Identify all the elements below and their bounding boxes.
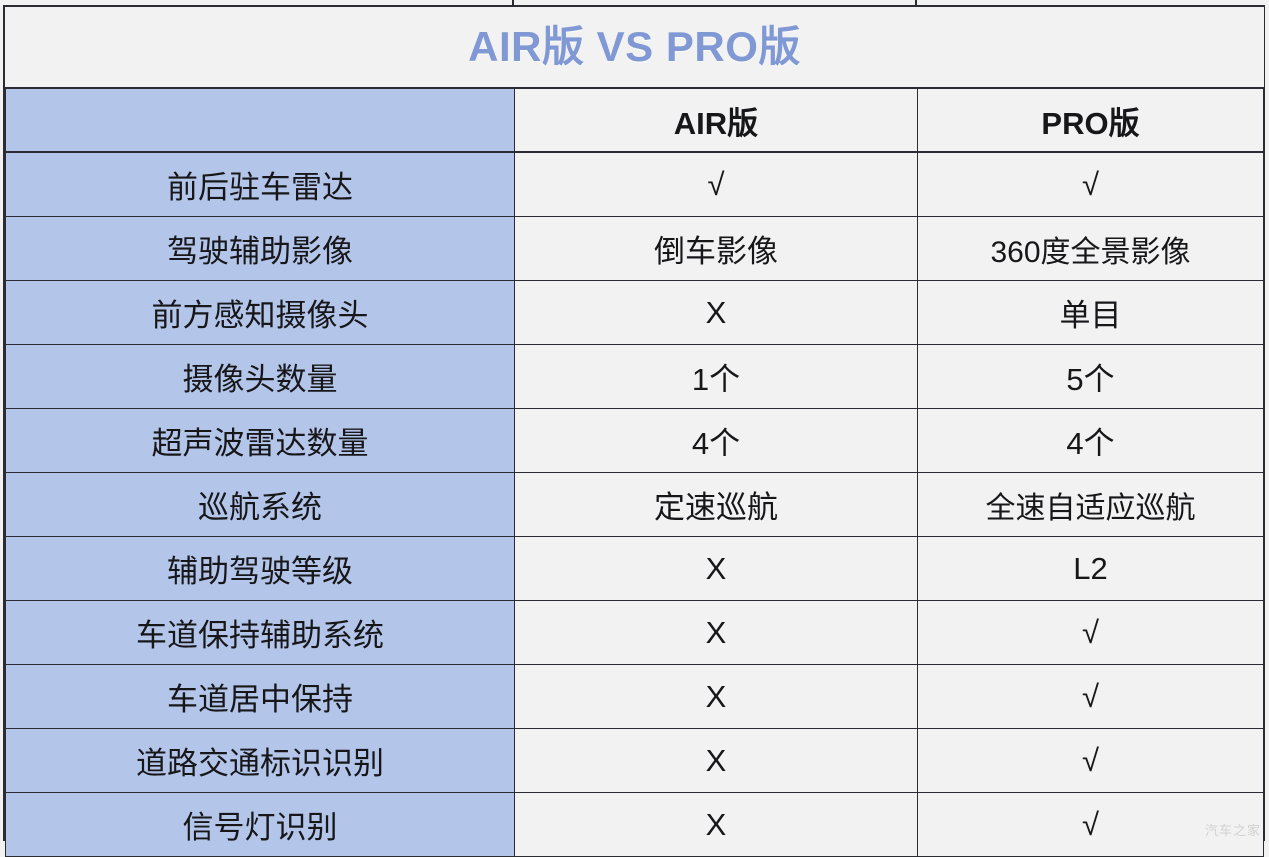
pro-value: 单目	[918, 281, 1264, 345]
pro-value: √	[918, 665, 1264, 729]
feature-label: 前方感知摄像头	[6, 281, 515, 345]
air-value: X	[515, 537, 918, 601]
table-row: 前后驻车雷达 √ √	[6, 152, 1264, 217]
table-row: 辅助驾驶等级 X L2	[6, 537, 1264, 601]
page-title: AIR版 VS PRO版	[468, 23, 801, 70]
pro-value: √	[918, 793, 1264, 857]
pro-value: √	[918, 601, 1264, 665]
feature-label: 摄像头数量	[6, 345, 515, 409]
feature-label: 车道居中保持	[6, 665, 515, 729]
header-cell-feature	[6, 88, 515, 152]
pro-value: 360度全景影像	[918, 217, 1264, 281]
feature-label: 驾驶辅助影像	[6, 217, 515, 281]
table-row: 超声波雷达数量 4个 4个	[6, 409, 1264, 473]
header-cell-air: AIR版	[515, 88, 918, 152]
pro-value: √	[918, 729, 1264, 793]
table-row: 道路交通标识识别 X √	[6, 729, 1264, 793]
air-value: 定速巡航	[515, 473, 918, 537]
table-row: 车道居中保持 X √	[6, 665, 1264, 729]
comparison-table: AIR版 VS PRO版 AIR版 PRO版 前后驻车雷达 √ √ 驾驶辅助影像…	[5, 7, 1264, 857]
table-row: 摄像头数量 1个 5个	[6, 345, 1264, 409]
header-row: AIR版 PRO版	[6, 88, 1264, 152]
table-row: 信号灯识别 X √	[6, 793, 1264, 857]
feature-label: 辅助驾驶等级	[6, 537, 515, 601]
air-value: 倒车影像	[515, 217, 918, 281]
title-cell: AIR版 VS PRO版	[6, 7, 1264, 88]
comparison-sheet: AIR版 VS PRO版 AIR版 PRO版 前后驻车雷达 √ √ 驾驶辅助影像…	[3, 5, 1265, 841]
title-row: AIR版 VS PRO版	[6, 7, 1264, 88]
pro-value: 5个	[918, 345, 1264, 409]
air-value: 4个	[515, 409, 918, 473]
air-value: X	[515, 729, 918, 793]
pro-value: L2	[918, 537, 1264, 601]
table-row: 前方感知摄像头 X 单目	[6, 281, 1264, 345]
air-value: X	[515, 665, 918, 729]
table-row: 驾驶辅助影像 倒车影像 360度全景影像	[6, 217, 1264, 281]
table-body: AIR版 VS PRO版 AIR版 PRO版 前后驻车雷达 √ √ 驾驶辅助影像…	[6, 7, 1264, 857]
table-row: 车道保持辅助系统 X √	[6, 601, 1264, 665]
feature-label: 前后驻车雷达	[6, 152, 515, 217]
feature-label: 超声波雷达数量	[6, 409, 515, 473]
air-value: 1个	[515, 345, 918, 409]
air-value: X	[515, 793, 918, 857]
feature-label: 道路交通标识识别	[6, 729, 515, 793]
pro-value: √	[918, 152, 1264, 217]
pro-value: 全速自适应巡航	[918, 473, 1264, 537]
header-cell-pro: PRO版	[918, 88, 1264, 152]
feature-label: 信号灯识别	[6, 793, 515, 857]
air-value: X	[515, 601, 918, 665]
air-value: √	[515, 152, 918, 217]
pro-value: 4个	[918, 409, 1264, 473]
feature-label: 巡航系统	[6, 473, 515, 537]
air-value: X	[515, 281, 918, 345]
page-root: AIR版 VS PRO版 AIR版 PRO版 前后驻车雷达 √ √ 驾驶辅助影像…	[0, 0, 1269, 845]
table-row: 巡航系统 定速巡航 全速自适应巡航	[6, 473, 1264, 537]
feature-label: 车道保持辅助系统	[6, 601, 515, 665]
